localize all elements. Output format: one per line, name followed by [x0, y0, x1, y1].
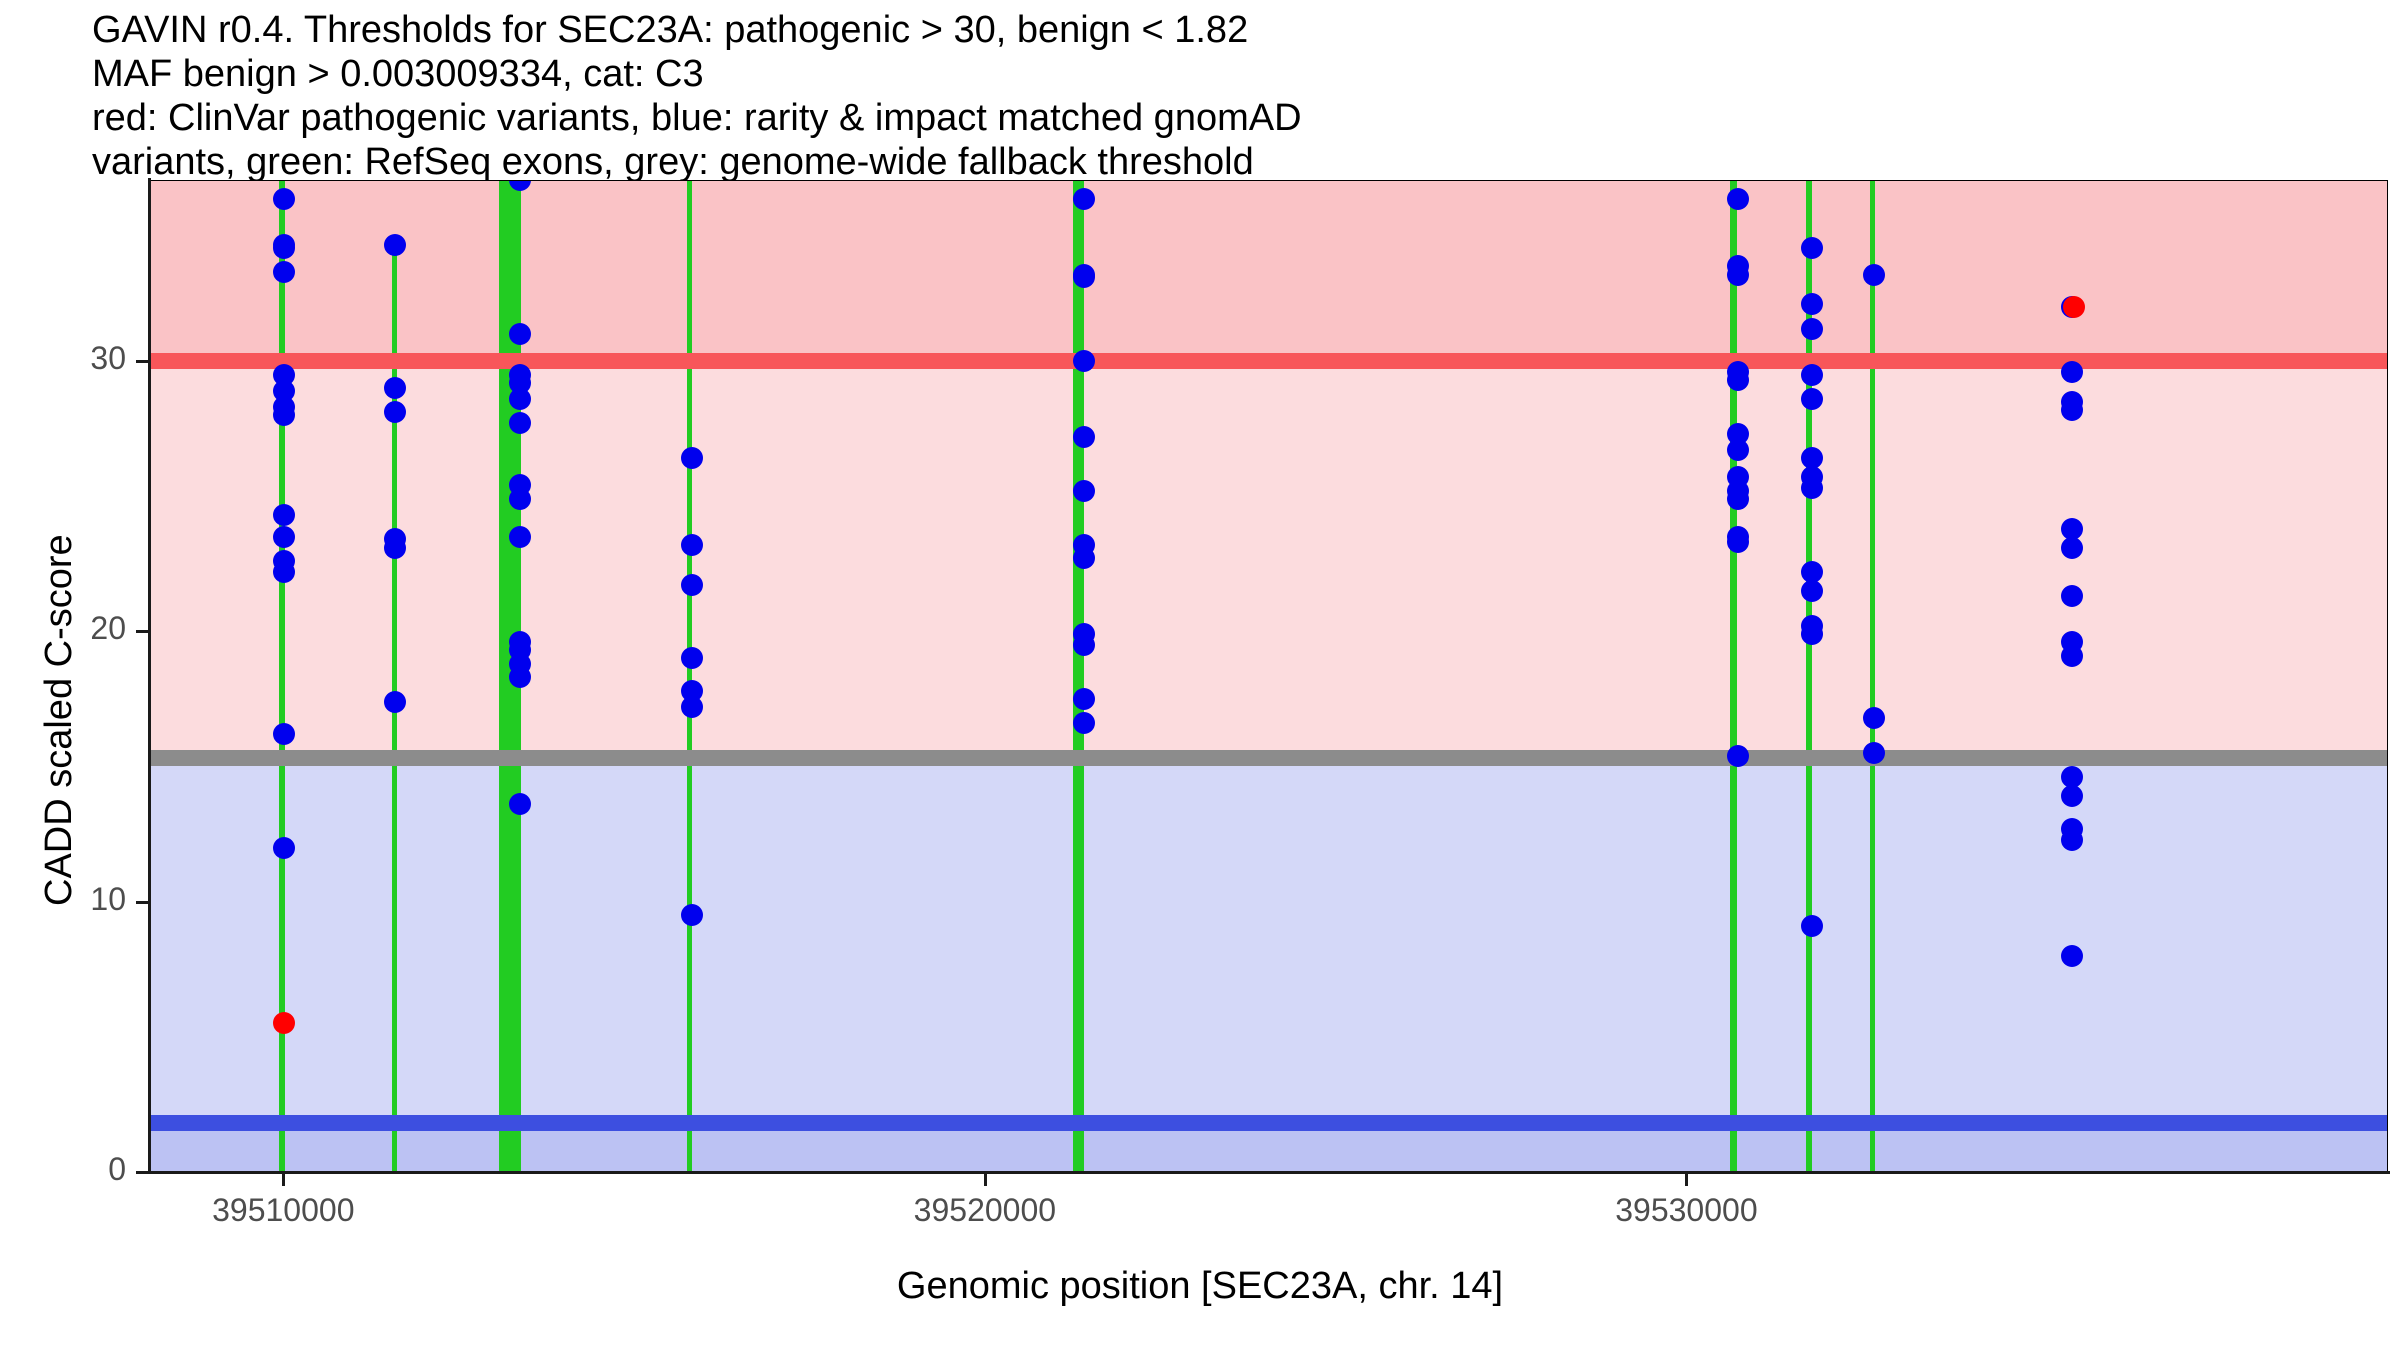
data-point	[1801, 623, 1823, 645]
x-tick-mark-39520000	[984, 1174, 987, 1186]
data-point	[273, 723, 295, 745]
data-point	[1801, 318, 1823, 340]
y-tick-mark-0	[136, 1171, 148, 1174]
data-point	[1801, 580, 1823, 602]
y-axis-label: CADD scaled C-score	[38, 534, 81, 906]
x-tick-label-39520000: 39520000	[835, 1192, 1135, 1229]
exon-marker-4	[1073, 180, 1084, 1172]
threshold-line-30	[150, 353, 2388, 369]
band-pathogenic	[150, 180, 2388, 361]
band-vous-pathogenic-leaning	[150, 361, 2388, 758]
exon-marker-3	[687, 180, 692, 1172]
data-point	[2063, 296, 2085, 318]
data-point	[384, 537, 406, 559]
data-point	[1727, 264, 1749, 286]
data-point	[1727, 439, 1749, 461]
data-point	[2061, 645, 2083, 667]
chart-title-block: GAVIN r0.4. Thresholds for SEC23A: patho…	[92, 8, 2372, 184]
x-tick-mark-39510000	[282, 1174, 285, 1186]
data-point	[1801, 364, 1823, 386]
data-point	[384, 234, 406, 256]
band-vous-benign-leaning	[150, 758, 2388, 1122]
data-point	[2061, 829, 2083, 851]
data-point	[273, 261, 295, 283]
threshold-line-1.82	[150, 1115, 2388, 1131]
y-tick-mark-20	[136, 630, 148, 633]
x-axis-label: Genomic position [SEC23A, chr. 14]	[0, 1265, 2400, 1308]
data-point	[273, 237, 295, 259]
data-point	[273, 188, 295, 210]
data-point	[2061, 399, 2083, 421]
title-line-1: GAVIN r0.4. Thresholds for SEC23A: patho…	[92, 8, 2372, 52]
y-tick-mark-10	[136, 901, 148, 904]
exon-marker-7	[1870, 180, 1875, 1172]
data-point	[273, 837, 295, 859]
data-point	[1727, 531, 1749, 553]
data-point	[1727, 488, 1749, 510]
data-point	[1801, 388, 1823, 410]
title-line-3: red: ClinVar pathogenic variants, blue: …	[92, 96, 2372, 140]
x-tick-mark-39530000	[1685, 1174, 1688, 1186]
data-point	[2061, 945, 2083, 967]
data-point	[1727, 745, 1749, 767]
y-tick-mark-30	[136, 360, 148, 363]
title-line-2: MAF benign > 0.003009334, cat: C3	[92, 52, 2372, 96]
chart-root: GAVIN r0.4. Thresholds for SEC23A: patho…	[0, 0, 2400, 1350]
plot-panel	[150, 180, 2388, 1172]
data-point	[273, 526, 295, 548]
data-point	[1863, 264, 1885, 286]
data-point	[1727, 369, 1749, 391]
plot-area	[150, 180, 2388, 1172]
data-point	[384, 377, 406, 399]
y-axis-line	[148, 178, 151, 1174]
exon-marker-5	[1730, 180, 1738, 1172]
y-tick-label-0: 0	[0, 1151, 126, 1188]
x-tick-label-39530000: 39530000	[1536, 1192, 1836, 1229]
data-point	[1801, 237, 1823, 259]
data-point	[1727, 188, 1749, 210]
data-point	[273, 404, 295, 426]
data-point	[1801, 915, 1823, 937]
data-point	[273, 504, 295, 526]
title-line-4: variants, green: RefSeq exons, grey: gen…	[92, 140, 2372, 184]
y-tick-label-30: 30	[0, 340, 126, 377]
data-point	[2061, 537, 2083, 559]
x-tick-label-39510000: 39510000	[133, 1192, 433, 1229]
threshold-line-15.3	[150, 750, 2388, 766]
x-axis-line	[148, 1171, 2390, 1174]
data-point	[273, 561, 295, 583]
data-point	[1801, 477, 1823, 499]
data-point	[384, 691, 406, 713]
